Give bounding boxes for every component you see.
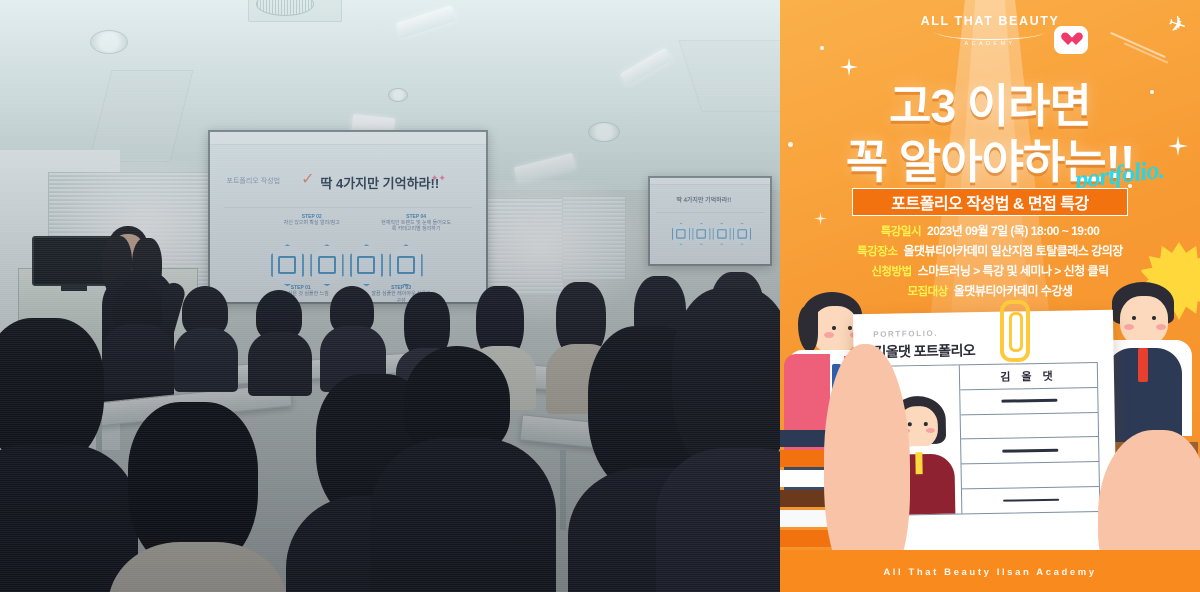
character-tie xyxy=(1138,348,1148,382)
slide-browser-bar xyxy=(210,132,486,145)
info-key: 모집대상 xyxy=(907,283,947,299)
info-key: 특강장소 xyxy=(857,243,897,259)
table-row xyxy=(961,438,1098,465)
ceiling-spotlight xyxy=(90,30,128,54)
info-row: 특강일시 2023년 09월 7일 (목) 18:00 ~ 19:00 xyxy=(798,222,1182,239)
character-face xyxy=(1120,296,1168,346)
character-eye xyxy=(1152,316,1156,320)
hexagon-icon xyxy=(271,244,304,286)
slide-check-icon: ✓ xyxy=(301,169,314,189)
info-row: 특강장소 올댓뷰티아카데미 일산지점 토탈클래스 강의장 xyxy=(798,242,1182,259)
info-row: 신청방법 스마트러닝 > 특강 및 세미나 > 신청 클릭 xyxy=(798,262,1182,279)
slide-hexagon-row xyxy=(672,223,751,245)
slide-title: 딱 4가지만 기억하라!! xyxy=(320,173,439,192)
row-line xyxy=(1002,449,1058,452)
hexagon-icon xyxy=(712,223,730,245)
slide-step-text: 현재직인 트렌드 및 눈에 들어오도록 카테고리별 정리하기 xyxy=(381,220,451,232)
slide-step-text: 자신 있으며 확실 알리/참고 xyxy=(284,220,340,226)
projection-screen-main: 포트폴리오 작성법 ✓ 딱 4가지만 기억하라!! ✦✦ STEP 02 자신 … xyxy=(208,130,488,304)
hexagon-icon xyxy=(692,223,710,245)
hexagon-icon xyxy=(733,223,751,245)
brand-logo: ALL THAT BEAUTY ACADEMY xyxy=(780,14,1200,47)
info-value: 올댓뷰티아카데미 일산지점 토탈클래스 강의장 xyxy=(904,242,1123,259)
slide-step-caption: STEP 04 현재직인 트렌드 및 눈에 들어오도록 카테고리별 정리하기 xyxy=(381,214,451,233)
character-hair-side xyxy=(798,306,818,352)
student-torso xyxy=(656,448,780,592)
projection-screen-secondary: 딱 4가지만 기억하라!! xyxy=(648,176,772,266)
card-title: 김올댓 포트폴리오 xyxy=(873,340,975,362)
slide-step-caption: STEP 02 자신 있으며 확실 알리/참고 xyxy=(282,214,342,227)
student-torso xyxy=(370,438,556,592)
logo-main-text: ALL THAT BEAUTY xyxy=(780,14,1200,28)
card-kicker: PORTFOLIO. xyxy=(873,329,938,339)
desk-leg xyxy=(560,450,566,530)
character-cheek xyxy=(1124,324,1134,330)
id-photo-eye xyxy=(908,422,912,426)
table-row xyxy=(961,413,1098,440)
character-cheek xyxy=(1156,324,1166,330)
character-eye xyxy=(848,326,852,330)
info-value: 올댓뷰티아카데미 수강생 xyxy=(954,282,1073,299)
id-photo-eye xyxy=(924,422,928,426)
hexagon-icon xyxy=(389,244,422,286)
info-key: 신청방법 xyxy=(871,263,911,279)
slide-divider xyxy=(656,212,764,213)
slide-star-decor: ✦✦ xyxy=(431,173,446,184)
heart-icon xyxy=(1064,33,1079,47)
paperclip-icon xyxy=(1000,300,1030,362)
row-line xyxy=(1003,499,1059,502)
student-torso xyxy=(0,444,138,592)
student-torso xyxy=(102,324,174,394)
footer-text: All That Beauty Ilsan Academy xyxy=(780,567,1200,578)
character-eye xyxy=(832,326,836,330)
subtitle-badge: 포트폴리오 작성법 & 면접 특강 xyxy=(852,188,1128,216)
slide-browser-bar xyxy=(650,178,770,185)
slide-title-small: 딱 4가지만 기억하라!! xyxy=(676,195,731,204)
hexagon-icon xyxy=(310,244,343,286)
classroom-lecture-photo: 포트폴리오 작성법 ✓ 딱 4가지만 기억하라!! ✦✦ STEP 02 자신 … xyxy=(0,0,780,592)
table-row xyxy=(962,487,1099,513)
hexagon-icon xyxy=(350,244,383,286)
student-torso xyxy=(174,328,238,392)
slide-divider xyxy=(224,207,472,208)
table-row xyxy=(962,462,1099,489)
info-key: 특강일시 xyxy=(881,223,921,239)
table-row xyxy=(960,388,1097,415)
hexagon-icon xyxy=(672,223,690,245)
student-torso xyxy=(248,332,312,396)
row-line xyxy=(1001,399,1057,402)
logo-swoosh xyxy=(935,30,1045,40)
ceiling-spotlight xyxy=(588,122,620,142)
info-value: 2023년 09월 7일 (목) 18:00 ~ 19:00 xyxy=(927,222,1099,239)
applicant-name: 김 올 댓 xyxy=(1000,368,1057,385)
info-value: 스마트러닝 > 특강 및 세미나 > 신청 클릭 xyxy=(918,262,1109,279)
id-photo-tie xyxy=(915,452,922,474)
character-cheek xyxy=(824,332,834,338)
speech-bubble-icon xyxy=(1054,26,1088,54)
slide-subtitle: 포트폴리오 작성법 xyxy=(227,176,280,186)
screenshot-root: 포트폴리오 작성법 ✓ 딱 4가지만 기억하라!! ✦✦ STEP 02 자신 … xyxy=(0,0,1200,592)
table-row: 김 올 댓 xyxy=(960,363,1097,390)
character-face xyxy=(812,306,858,354)
slide-hexagon-row xyxy=(271,244,423,286)
ceiling-spotlight xyxy=(388,88,408,102)
portfolio-rows: 김 올 댓 xyxy=(960,363,1100,513)
character-eye xyxy=(1132,316,1136,320)
lecture-promo-poster: ALL THAT BEAUTY ACADEMY ✈ 고3 이라면 꼭 알아야하는… xyxy=(780,0,1200,592)
